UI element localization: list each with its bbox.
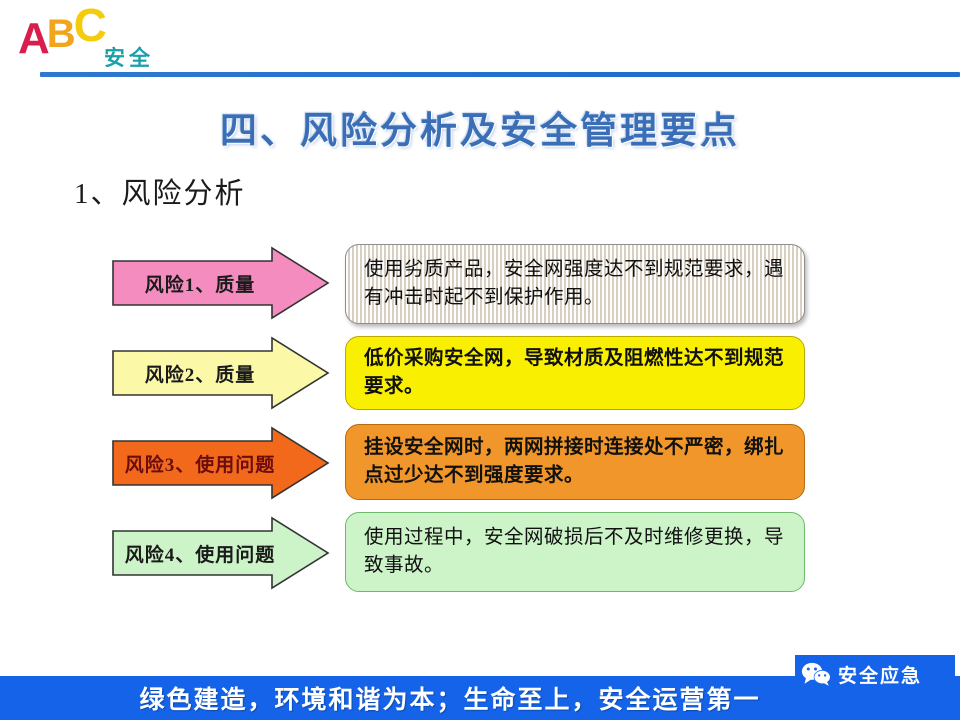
footer-slogan: 绿色建造，环境和谐为本；生命至上，安全运营第一 [0,676,900,720]
header-divider [40,72,960,77]
risk-description-box: 低价采购安全网，导致材质及阻燃性达不到规范要求。 [345,336,805,410]
risk-row-list: 风险1、质量 使用劣质产品，安全网强度达不到规范要求，遇有冲击时起不到保护作用。… [0,238,960,598]
risk-row: 风险1、质量 使用劣质产品，安全网强度达不到规范要求，遇有冲击时起不到保护作用。 [0,238,960,328]
risk-arrow-3[interactable]: 风险3、使用问题 [112,426,330,500]
risk-arrow-2[interactable]: 风险2、质量 [112,336,330,410]
risk-row: 风险3、使用问题 挂设安全网时，两网拼接时连接处不严密，绑扎点过少达不到强度要求… [0,418,960,508]
wechat-icon [801,661,831,687]
section-subtitle: 1、风险分析 [74,170,246,212]
logo-letter-b: B [47,14,75,54]
risk-description-box: 使用过程中，安全网破损后不及时维修更换，导致事故。 [345,512,805,592]
wechat-account-badge: 安全应急 [795,655,955,693]
arrow-right-icon [112,516,330,590]
risk-arrow-4[interactable]: 风险4、使用问题 [112,516,330,590]
risk-description-box: 挂设安全网时，两网拼接时连接处不严密，绑扎点过少达不到强度要求。 [345,424,805,500]
arrow-right-icon [112,336,330,410]
wechat-account-name: 安全应急 [838,661,922,688]
risk-arrow-1[interactable]: 风险1、质量 [112,246,330,320]
logo-abc-letters: ABC [18,14,109,61]
logo-chinese-text: 安全 [104,42,154,72]
risk-row: 风险4、使用问题 使用过程中，安全网破损后不及时维修更换，导致事故。 [0,508,960,598]
risk-description-box: 使用劣质产品，安全网强度达不到规范要求，遇有冲击时起不到保护作用。 [345,244,805,324]
arrow-right-icon [112,426,330,500]
logo-letter-c: C [74,2,106,48]
logo-letter-a: A [18,17,49,61]
arrow-right-icon [112,246,330,320]
brand-logo: ABC 安全 [18,14,238,70]
page-title: 四、风险分析及安全管理要点 [0,100,960,154]
risk-row: 风险2、质量 低价采购安全网，导致材质及阻燃性达不到规范要求。 [0,328,960,418]
